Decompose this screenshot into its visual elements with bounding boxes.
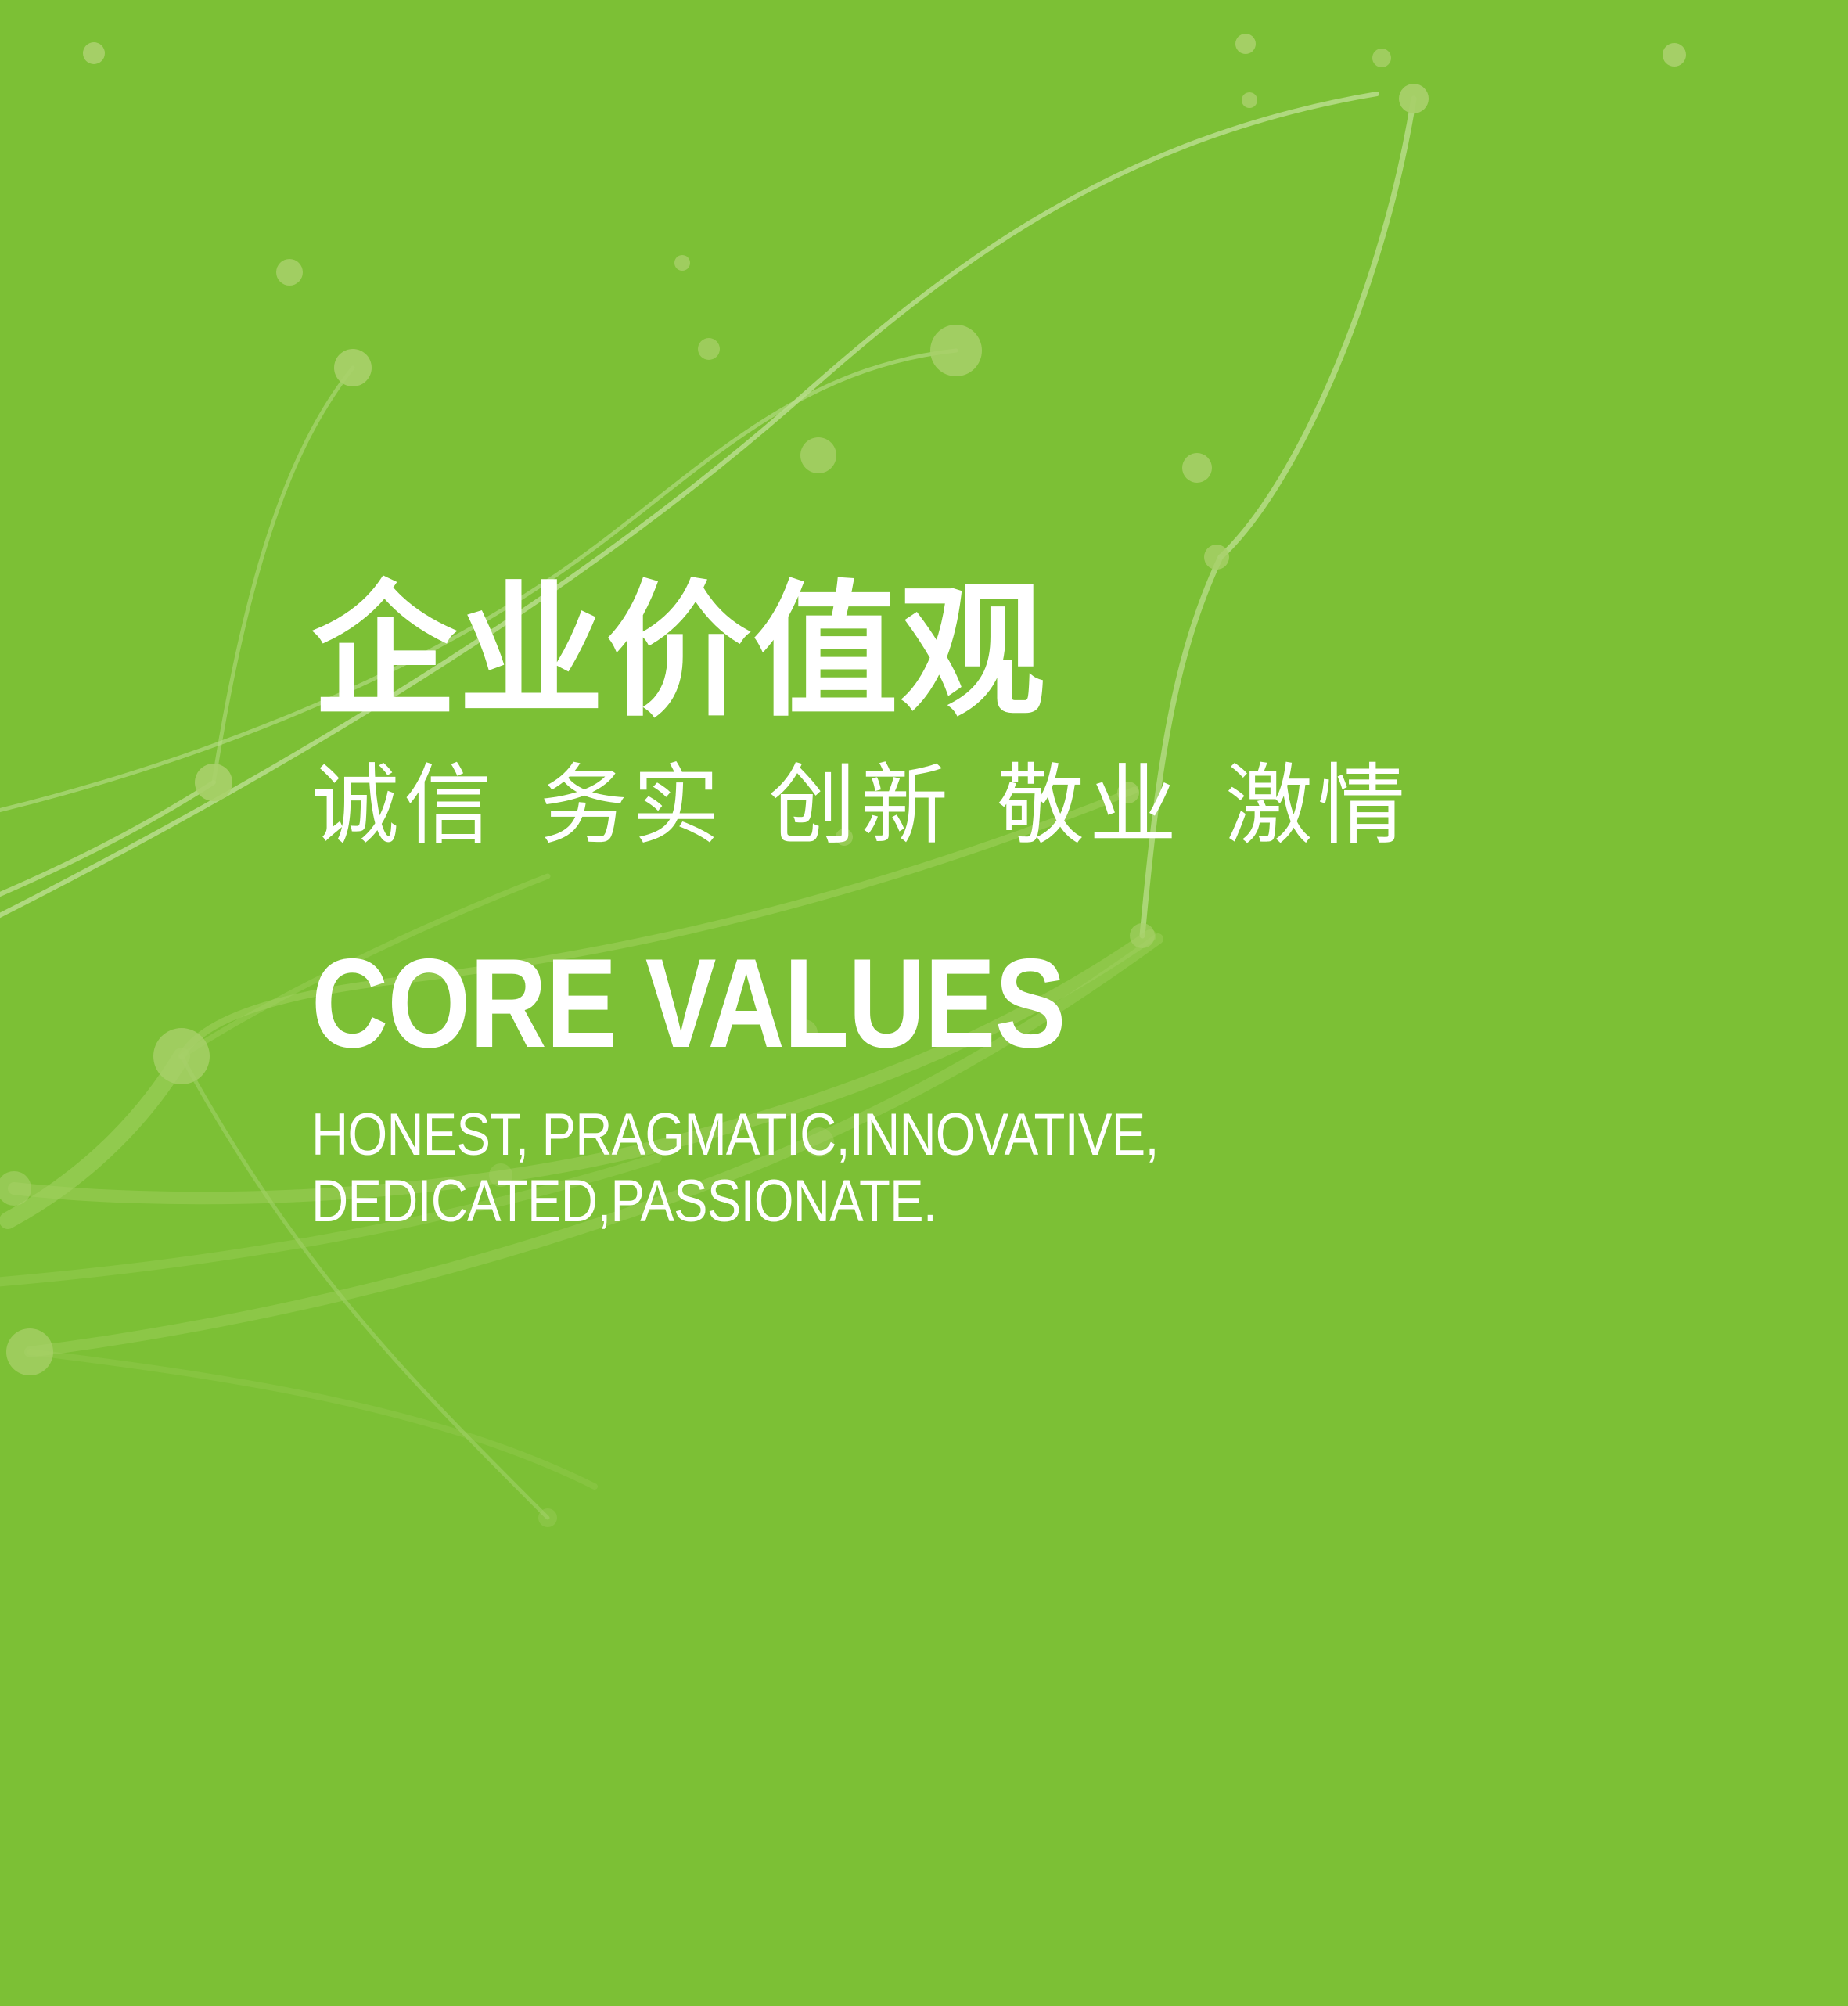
english-title: CORE VALUES <box>311 940 1494 1067</box>
chinese-value-1: 诚信 <box>311 762 496 850</box>
chinese-value-4: 敬业 <box>997 762 1181 850</box>
chinese-value-2: 务实 <box>540 762 724 850</box>
english-subtitle-line-1: HONEST, PRAGMATIC,INNOVATIVE, <box>311 1102 1523 1168</box>
english-subtitle: HONEST, PRAGMATIC,INNOVATIVE,DEDICATED,P… <box>311 1102 1523 1235</box>
chinese-value-3: 创新 <box>768 762 953 850</box>
chinese-title: 企业价值观 <box>311 579 1720 724</box>
poster-content: 企业价值观 诚信务实创新敬业激情 CORE VALUES HONEST, PRA… <box>311 579 1720 1235</box>
english-subtitle-line-2: DEDICATED,PASSIONATE. <box>311 1168 1523 1235</box>
chinese-subtitle: 诚信务实创新敬业激情 <box>311 762 1720 850</box>
chinese-value-5: 激情 <box>1225 762 1410 850</box>
core-values-poster: 企业价值观 诚信务实创新敬业激情 CORE VALUES HONEST, PRA… <box>0 0 1848 2006</box>
